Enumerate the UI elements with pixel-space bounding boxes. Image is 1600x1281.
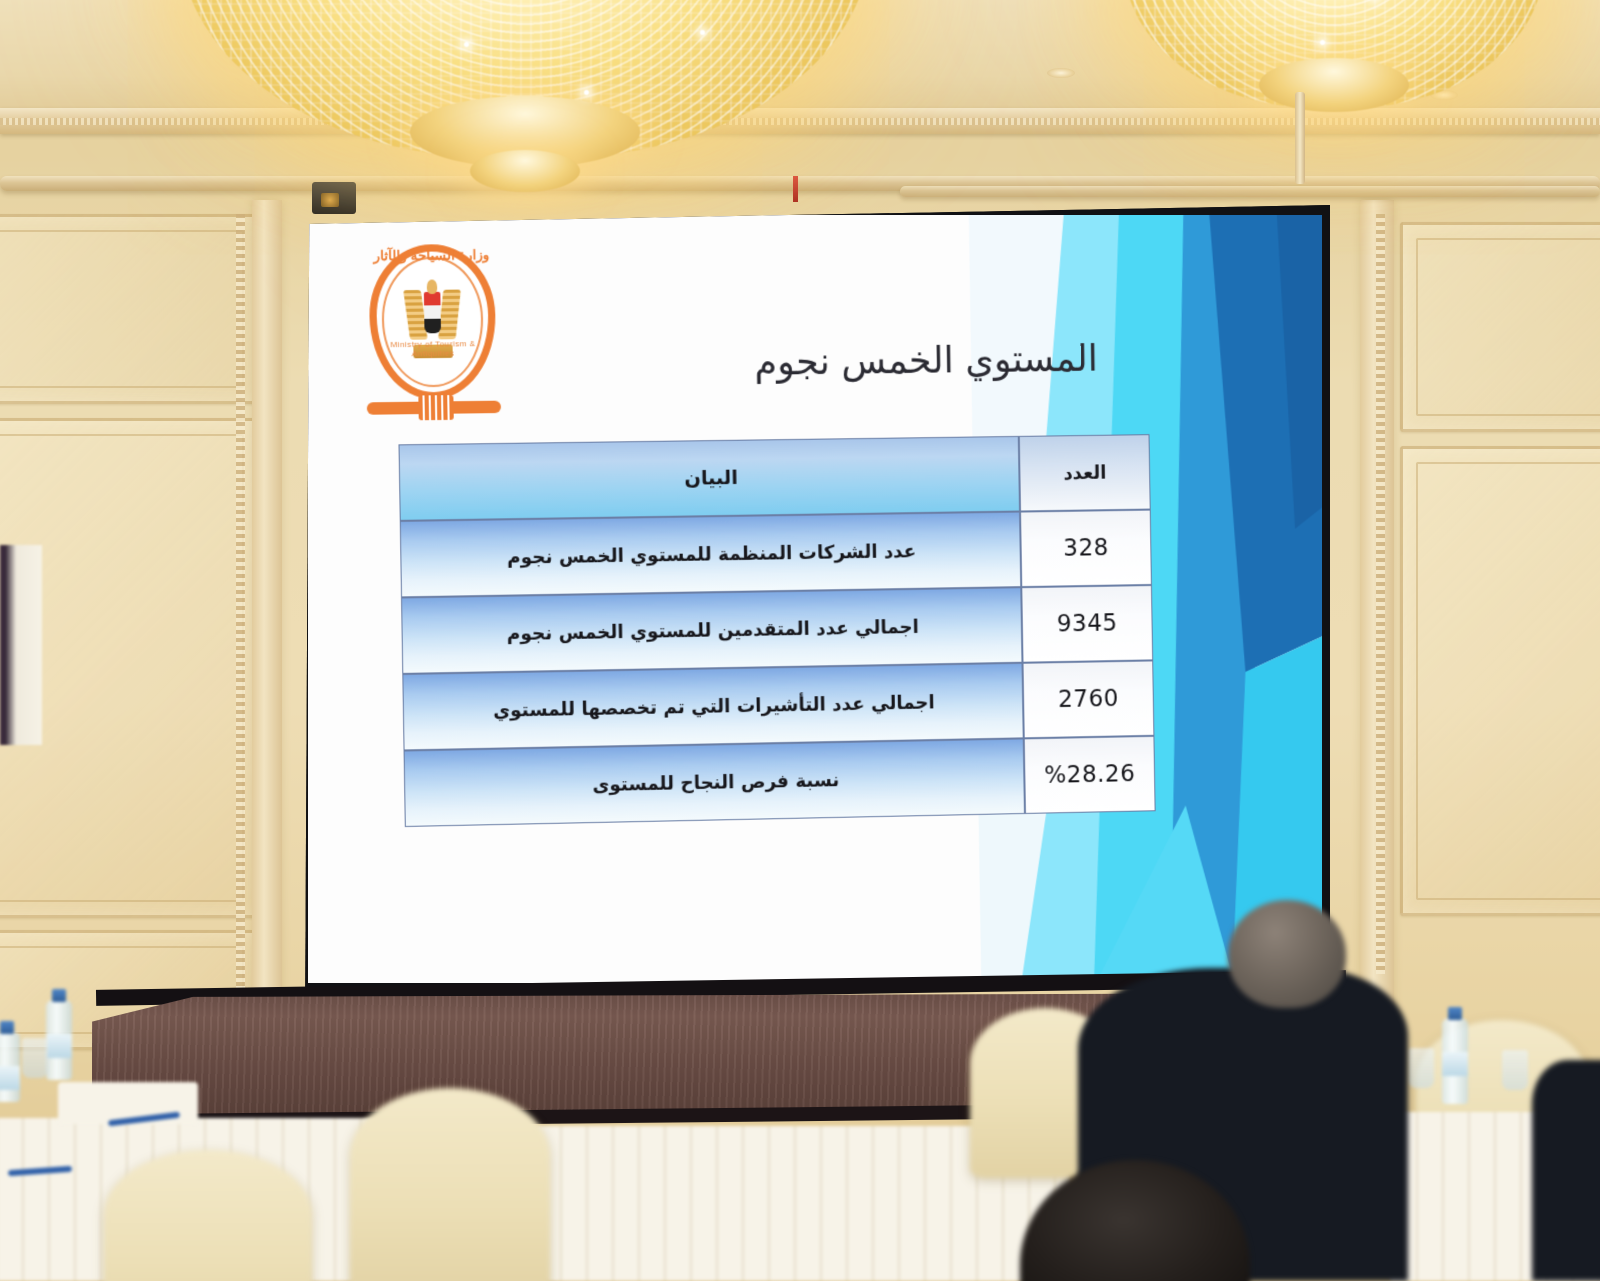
- table-header: العدد البيان: [398, 434, 1150, 521]
- water-bottle: [46, 1000, 72, 1080]
- statistics-table: العدد البيان 328 عدد الشركات المنظمة للم…: [398, 434, 1155, 827]
- cell-description: اجمالي عدد المتقدمين للمستوي الخمس نجوم: [401, 587, 1022, 674]
- bottle-cap: [1448, 1007, 1462, 1020]
- audience-member-head: [1228, 900, 1346, 1008]
- crystal-chandelier-right: [1124, 0, 1544, 108]
- table-header-row: العدد البيان: [398, 434, 1150, 521]
- water-bottle: [0, 1032, 20, 1102]
- cell-count: 328: [1020, 510, 1152, 588]
- table-row: 328 عدد الشركات المنظمة للمستوي الخمس نج…: [400, 510, 1152, 598]
- table-row: 2760 اجمالي عدد التأشيرات التي تم تخصصها…: [402, 660, 1154, 750]
- table-row: %28.26 نسبة فرص النجاح للمستوى: [404, 736, 1156, 827]
- cell-description: عدد الشركات المنظمة للمستوي الخمس نجوم: [400, 512, 1022, 598]
- chandelier-stem: [1295, 92, 1305, 184]
- ceiling-rail-pipe-secondary: [900, 186, 1600, 197]
- bottle-label: [46, 1034, 72, 1058]
- cell-count: %28.26: [1024, 736, 1156, 814]
- wall-panel: [1400, 222, 1600, 432]
- table-header-description: البيان: [398, 436, 1020, 521]
- flipchart-board: [0, 545, 42, 745]
- bottle-cap: [0, 1021, 14, 1034]
- wall-pilaster: [252, 200, 282, 1080]
- ministry-logo: وزارة السياحة والآثار Ministry of Touris…: [360, 244, 505, 428]
- cell-count: 2760: [1022, 660, 1154, 738]
- drinking-glass: [1502, 1050, 1528, 1090]
- eagle-head: [427, 279, 438, 294]
- slide-content: وزارة السياحة والآثار Ministry of Touris…: [308, 215, 1322, 983]
- pilaster-bead-moulding: [236, 214, 245, 1074]
- chandelier-drop: [1259, 58, 1409, 112]
- wall-panel-inner: [1416, 462, 1600, 900]
- bottle-cap: [52, 989, 66, 1002]
- chandelier-sparkle: [700, 30, 705, 35]
- slide-title: المستوي الخمس نجوم: [601, 336, 1249, 386]
- table-row: 9345 اجمالي عدد المتقدمين للمستوي الخمس …: [401, 585, 1153, 674]
- wall-panel: [0, 214, 260, 404]
- logo-latin-text: Ministry of Tourism & Antiquities: [372, 339, 495, 398]
- stage-light-clamp: [312, 182, 356, 214]
- eagle-shield-flag: [424, 292, 441, 334]
- chandelier-sparkle: [584, 90, 589, 95]
- bottle-label: [1442, 1052, 1468, 1076]
- conference-room-photo: وزارة السياحة والآثار Ministry of Touris…: [0, 0, 1600, 1281]
- cell-count: 9345: [1021, 585, 1153, 663]
- drinking-glass: [22, 1038, 48, 1078]
- projection-screen: وزارة السياحة والآثار Ministry of Touris…: [300, 205, 1330, 995]
- chandelier-sparkle: [1320, 40, 1325, 45]
- chandelier-sparkle: [464, 42, 469, 47]
- water-bottle: [1442, 1018, 1468, 1104]
- cell-description: اجمالي عدد التأشيرات التي تم تخصصها للمس…: [402, 663, 1023, 751]
- chandelier-drop: [470, 150, 580, 192]
- banquet-chair: [350, 1088, 550, 1281]
- logo-bar-notch: [418, 395, 453, 420]
- table-body: 328 عدد الشركات المنظمة للمستوي الخمس نج…: [400, 510, 1156, 827]
- bottle-label: [0, 1066, 20, 1090]
- drinking-glass: [1408, 1048, 1434, 1088]
- crystal-chandelier-left: [180, 0, 870, 158]
- audience-member-shoulder-right: [1532, 1060, 1600, 1281]
- table-header-count: العدد: [1019, 434, 1151, 511]
- banquet-chair: [104, 1150, 312, 1281]
- ceiling-downlight: [1047, 68, 1075, 78]
- presentation-slide: وزارة السياحة والآثار Ministry of Touris…: [308, 215, 1322, 983]
- pilaster-bead-moulding: [1376, 214, 1385, 974]
- eagle-right-wing: [438, 290, 461, 340]
- wall-panel-inner: [0, 230, 244, 388]
- red-marker-tag: [793, 176, 798, 202]
- cell-description: نسبة فرص النجاح للمستوى: [404, 738, 1025, 827]
- wall-panel: [1400, 446, 1600, 916]
- wall-panel-inner: [1416, 238, 1600, 416]
